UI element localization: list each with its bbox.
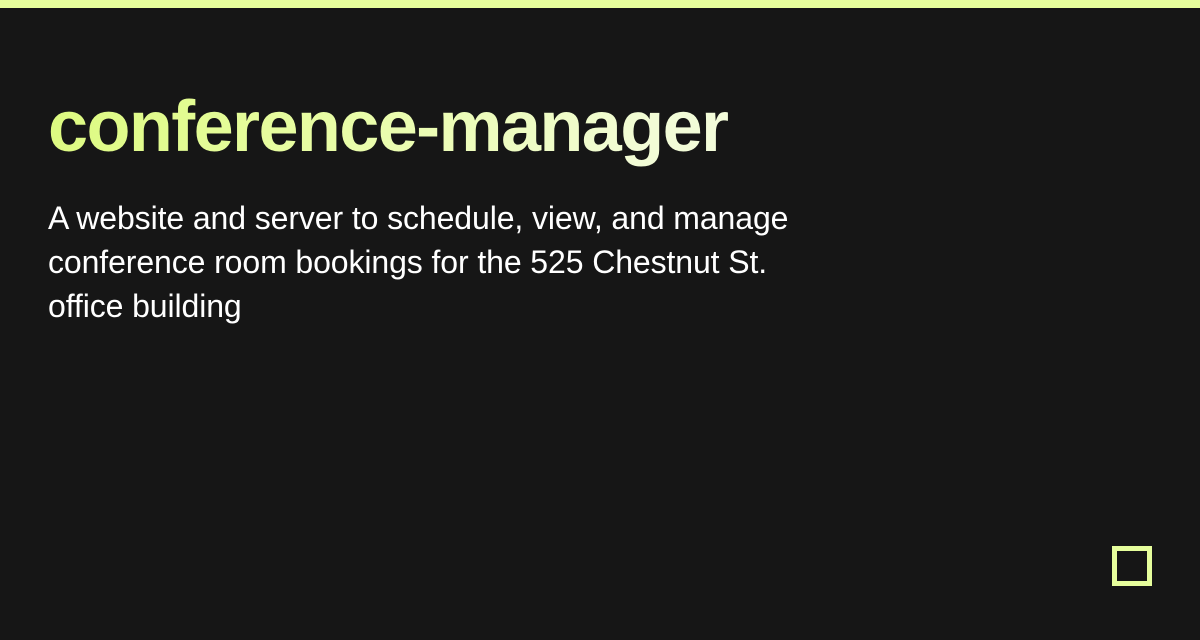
top-accent-bar	[0, 0, 1200, 8]
page-title: conference-manager	[48, 84, 928, 170]
social-preview-card: conference-manager A website and server …	[0, 0, 1200, 640]
card-content: conference-manager A website and server …	[48, 84, 928, 328]
repository-description: A website and server to schedule, view, …	[48, 196, 828, 328]
square-outline-icon	[1112, 546, 1152, 586]
